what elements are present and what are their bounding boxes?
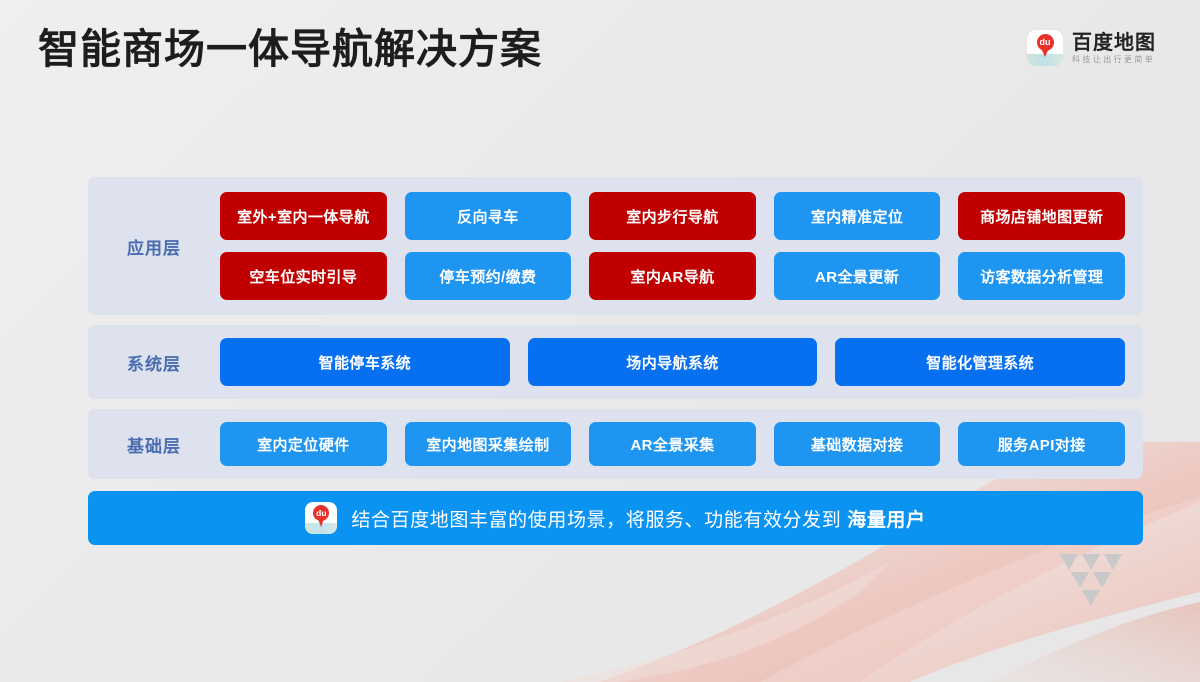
chip-item[interactable]: 室内步行导航 xyxy=(589,192,756,240)
layer-panel-application: 应用层 室外+室内一体导航 反向寻车 室内步行导航 室内精准定位 商场店铺地图更… xyxy=(88,177,1143,315)
logo-pin-label: du xyxy=(1037,35,1054,50)
chip-item[interactable]: 室外+室内一体导航 xyxy=(220,192,387,240)
layer-body-foundation: 室内定位硬件 室内地图采集绘制 AR全景采集 基础数据对接 服务API对接 xyxy=(220,422,1125,466)
chip-item[interactable]: 室内精准定位 xyxy=(774,192,941,240)
layer-panel-system: 系统层 智能停车系统 场内导航系统 智能化管理系统 xyxy=(88,325,1143,399)
summary-banner-lead: 结合百度地图丰富的使用场景，将服务、功能有效分发到 xyxy=(351,510,847,531)
summary-banner-text: 结合百度地图丰富的使用场景，将服务、功能有效分发到 海量用户 xyxy=(351,505,925,532)
chip-item[interactable]: 智能化管理系统 xyxy=(835,338,1125,386)
chip-item[interactable]: 空车位实时引导 xyxy=(220,252,387,300)
chip-item[interactable]: 场内导航系统 xyxy=(528,338,818,386)
chip-item[interactable]: 商场店铺地图更新 xyxy=(958,192,1125,240)
chip-item[interactable]: 室内AR导航 xyxy=(589,252,756,300)
chip-item[interactable]: 室内定位硬件 xyxy=(220,422,387,466)
banner-icon-pin-label: du xyxy=(313,506,329,520)
summary-banner-emphasis: 海量用户 xyxy=(847,510,925,531)
slide-canvas: 智能商场一体导航解决方案 du 百度地图 科技让出行更简单 应用层 室外+室内一… xyxy=(0,0,1200,682)
chip-item[interactable]: 停车预约/缴费 xyxy=(405,252,572,300)
chip-item[interactable]: 服务API对接 xyxy=(958,422,1125,466)
chip-row: 室外+室内一体导航 反向寻车 室内步行导航 室内精准定位 商场店铺地图更新 xyxy=(220,192,1125,240)
layer-panel-foundation: 基础层 室内定位硬件 室内地图采集绘制 AR全景采集 基础数据对接 服务API对… xyxy=(88,409,1143,479)
brand-text: 百度地图 科技让出行更简单 xyxy=(1072,32,1156,65)
chip-item[interactable]: AR全景采集 xyxy=(589,422,756,466)
chip-row: 室内定位硬件 室内地图采集绘制 AR全景采集 基础数据对接 服务API对接 xyxy=(220,422,1125,466)
triangle-pattern-decoration xyxy=(1058,552,1142,612)
architecture-diagram: 应用层 室外+室内一体导航 反向寻车 室内步行导航 室内精准定位 商场店铺地图更… xyxy=(88,177,1143,545)
layer-body-system: 智能停车系统 场内导航系统 智能化管理系统 xyxy=(220,338,1125,386)
layer-body-application: 室外+室内一体导航 反向寻车 室内步行导航 室内精准定位 商场店铺地图更新 空车… xyxy=(220,192,1125,300)
brand-name: 百度地图 xyxy=(1072,32,1156,55)
baidu-map-pin-icon: du xyxy=(1027,30,1063,66)
layer-label-foundation: 基础层 xyxy=(88,432,220,457)
chip-row: 智能停车系统 场内导航系统 智能化管理系统 xyxy=(220,338,1125,386)
chip-item[interactable]: 基础数据对接 xyxy=(774,422,941,466)
page-title: 智能商场一体导航解决方案 xyxy=(38,22,542,77)
chip-item[interactable]: 智能停车系统 xyxy=(220,338,510,386)
chip-item[interactable]: 室内地图采集绘制 xyxy=(405,422,572,466)
brand-tagline: 科技让出行更简单 xyxy=(1072,56,1156,65)
layer-label-system: 系统层 xyxy=(88,350,220,375)
brand-logo: du 百度地图 科技让出行更简单 xyxy=(1027,30,1156,66)
chip-item[interactable]: 反向寻车 xyxy=(405,192,572,240)
chip-item[interactable]: AR全景更新 xyxy=(774,252,941,300)
chip-row: 空车位实时引导 停车预约/缴费 室内AR导航 AR全景更新 访客数据分析管理 xyxy=(220,252,1125,300)
layer-label-application: 应用层 xyxy=(88,234,220,259)
summary-banner: du 结合百度地图丰富的使用场景，将服务、功能有效分发到 海量用户 xyxy=(88,491,1143,545)
baidu-map-app-icon: du xyxy=(305,502,337,534)
chip-item[interactable]: 访客数据分析管理 xyxy=(958,252,1125,300)
